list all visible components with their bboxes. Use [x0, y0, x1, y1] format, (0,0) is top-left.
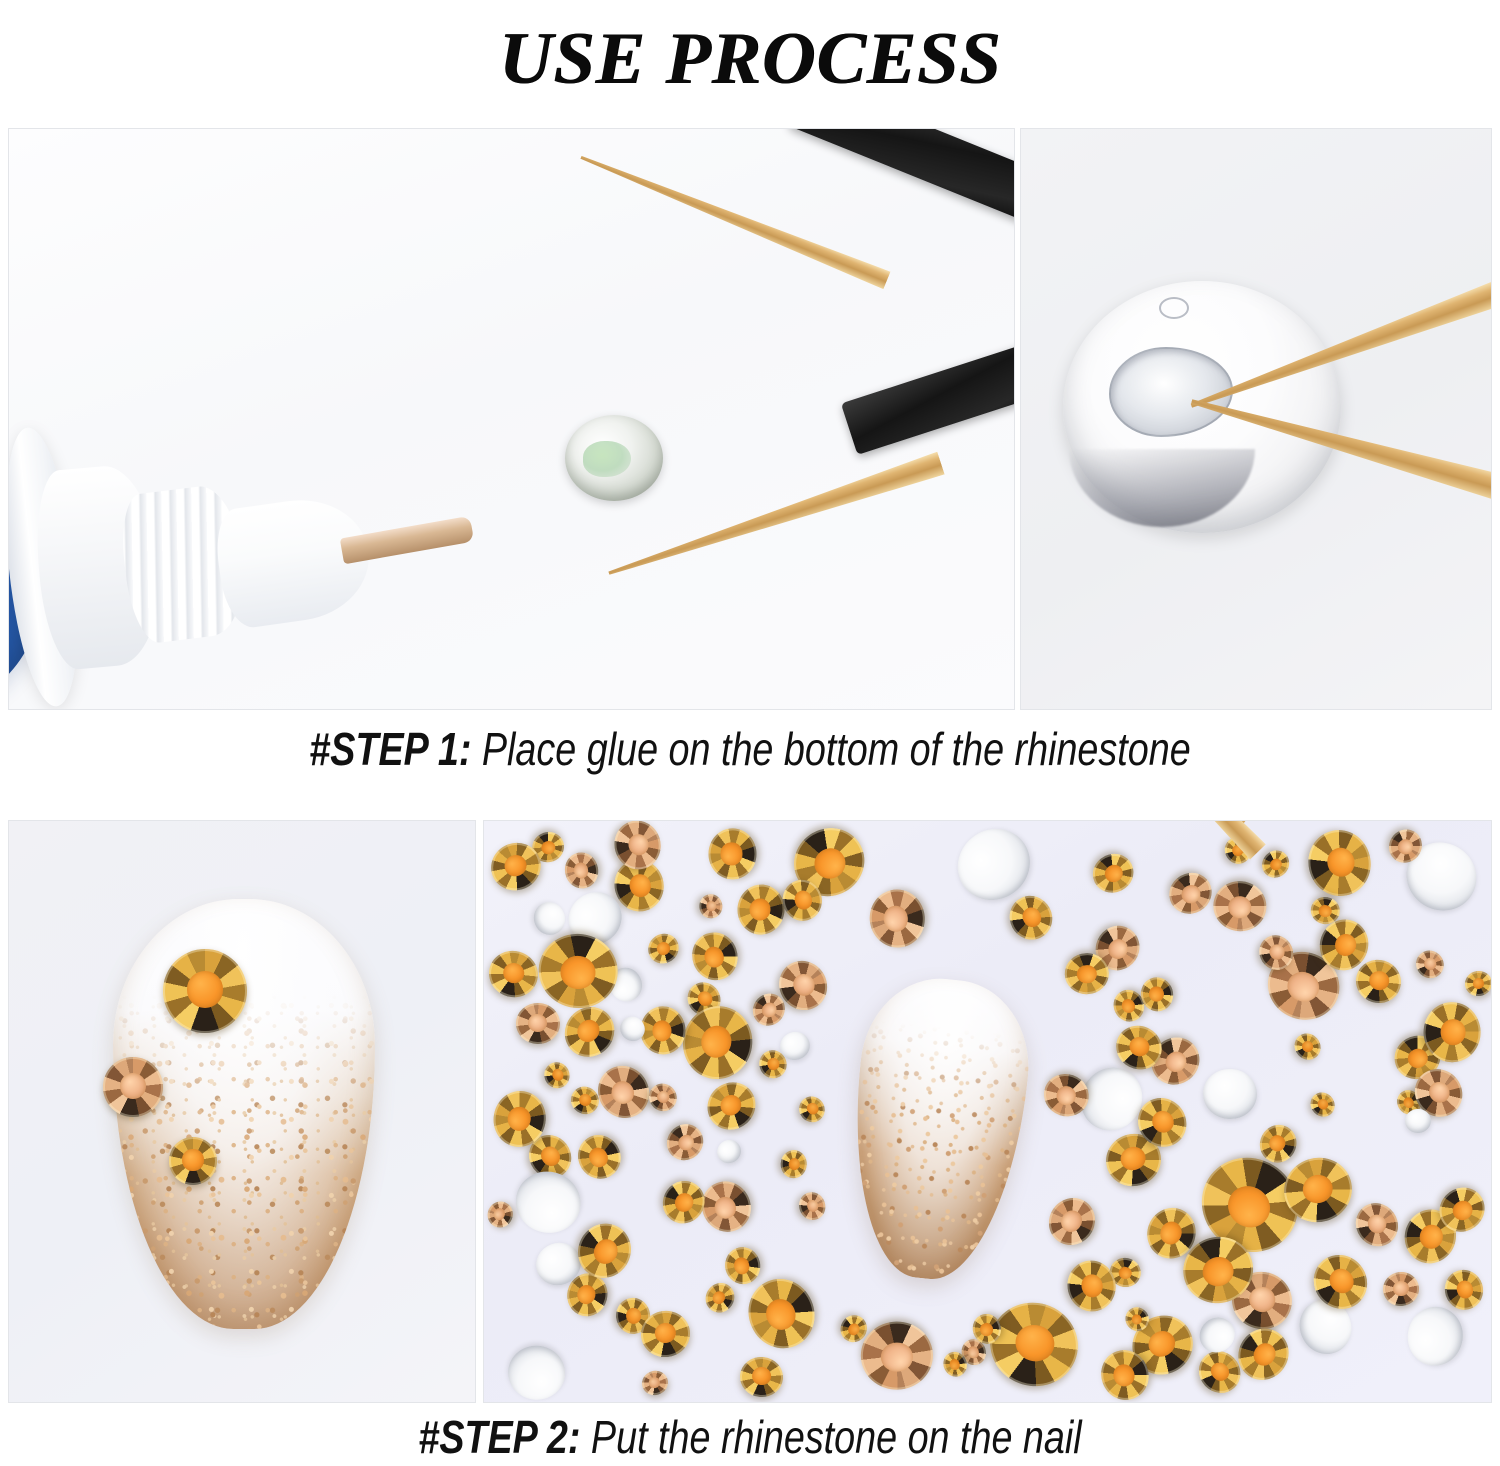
- rhinestone-table: [187, 971, 224, 1008]
- rhinestone-flat-back: [505, 1343, 567, 1401]
- rhinestone-amber: [655, 1172, 714, 1231]
- glue-bottle-nozzle-tip: [340, 516, 475, 565]
- step-1-label: #STEP 1:: [309, 723, 471, 775]
- rhinestone-rose-gold: [795, 1189, 830, 1225]
- step-1-panel-rhinestone-closeup: [1020, 128, 1492, 710]
- rhinestone-flat-back: [1403, 1303, 1466, 1369]
- step-2-panel-decorated-nail: [8, 820, 476, 1403]
- tweezer-upper-arm-icon: [577, 148, 890, 289]
- rhinestone-flat-back: [510, 1165, 588, 1240]
- rhinestone-rose-gold: [609, 820, 667, 875]
- tweezer-upper-arm-icon: [1186, 280, 1492, 417]
- rhinestone-rose-gold: [639, 1368, 670, 1398]
- page-title: USE PROCESS: [0, 0, 1500, 118]
- tweezer-lower-grip: [841, 326, 1015, 455]
- tweezers-closeup: [1171, 249, 1492, 589]
- rhinestone-rose-gold: [484, 1197, 517, 1231]
- rhinestone-table: [182, 1149, 203, 1170]
- rhinestone-amber: [700, 1278, 739, 1318]
- rhinestone-amber: [721, 1244, 763, 1288]
- rhinestone-amber: [686, 926, 745, 986]
- step-2-caption: #STEP 2: Put the rhinestone on the nail: [135, 1410, 1365, 1464]
- rhinestone-rose-gold: [516, 1003, 560, 1045]
- step-2-label: #STEP 2:: [418, 1411, 580, 1463]
- rhinestone-rose-gold: [1411, 945, 1450, 984]
- rhinestone-amber: [738, 1355, 784, 1399]
- rhinestone-rose-gold: [660, 1117, 710, 1167]
- rhinestone-rose-gold: [562, 850, 601, 891]
- rhinestone-flat-back: [529, 898, 570, 940]
- glue-smear: [583, 441, 631, 477]
- tweezer-upper-grip: [789, 128, 1015, 227]
- rhinestone-held: [565, 415, 663, 501]
- rhinestone-amber: [1423, 1001, 1482, 1063]
- rhinestone-flat-back: [713, 1135, 746, 1168]
- nail-glitter-gradient: [113, 899, 375, 1329]
- rhinestone-amber: [554, 997, 624, 1067]
- step-1-image-row: [8, 128, 1492, 710]
- nail-rhinestone-top: [163, 949, 247, 1033]
- rhinestone-table: [120, 1073, 146, 1099]
- rhinestone-amber: [570, 1127, 629, 1187]
- rhinestone-amber: [541, 1058, 574, 1092]
- step-2-text: Put the rhinestone on the nail: [580, 1411, 1081, 1463]
- rhinestone-amber: [640, 1006, 686, 1055]
- tweezer-upper-arm-icon: [977, 820, 1252, 832]
- rhinestone-table: [721, 842, 742, 865]
- rhinestone-amber: [1439, 1265, 1487, 1315]
- rhinestone-rose-gold: [699, 893, 724, 919]
- rhinestone-rose-gold: [1381, 1270, 1421, 1308]
- rhinestone-rose-gold: [1040, 1188, 1105, 1253]
- step-1-text: Place glue on the bottom of the rhinesto…: [471, 723, 1190, 775]
- rhinestone-amber: [708, 828, 757, 880]
- rhinestone-amber: [675, 999, 760, 1087]
- tweezer-lower-arm-icon: [1028, 820, 1266, 860]
- rhinestone-amber: [534, 929, 622, 1013]
- rhinestone-amber: [698, 1072, 765, 1139]
- rhinestone-amber: [643, 928, 685, 970]
- step-2-image-row: [8, 820, 1492, 1403]
- rhinestone-table: [788, 1158, 800, 1171]
- tweezers-placing: [914, 820, 1334, 1091]
- nail-rhinestone-middle: [103, 1057, 163, 1117]
- rhinestone-amber: [794, 1091, 830, 1127]
- glue-bottle: [8, 415, 449, 710]
- rhinestone-flat-back: [1404, 1108, 1431, 1134]
- rhinestone-amber: [780, 1149, 807, 1178]
- rhinestone-amber: [1306, 1088, 1340, 1122]
- nail-tip: [113, 899, 375, 1329]
- step-2-panel-rhinestone-scatter: [483, 820, 1492, 1403]
- tweezer-lower-arm-icon: [1188, 386, 1492, 507]
- tweezers: [479, 128, 1015, 541]
- rhinestone-amber: [484, 945, 543, 1002]
- rhinestone-flat-back: [1192, 1310, 1242, 1359]
- rhinestone-amber: [1463, 970, 1492, 999]
- rhinestone-table: [880, 1342, 912, 1372]
- rhinestone-rose-gold: [1347, 1195, 1406, 1254]
- rhinestone-rose-gold: [644, 1078, 683, 1117]
- step-1-panel-glue-bottle: [8, 128, 1015, 710]
- rhinestone-amber: [979, 1292, 1088, 1397]
- nail-rhinestone-bottom: [169, 1137, 217, 1185]
- rhinestone-rose-gold: [860, 1321, 933, 1390]
- rhinestone-amber: [736, 883, 787, 937]
- step-1-caption: #STEP 1: Place glue on the bottom of the…: [135, 722, 1365, 776]
